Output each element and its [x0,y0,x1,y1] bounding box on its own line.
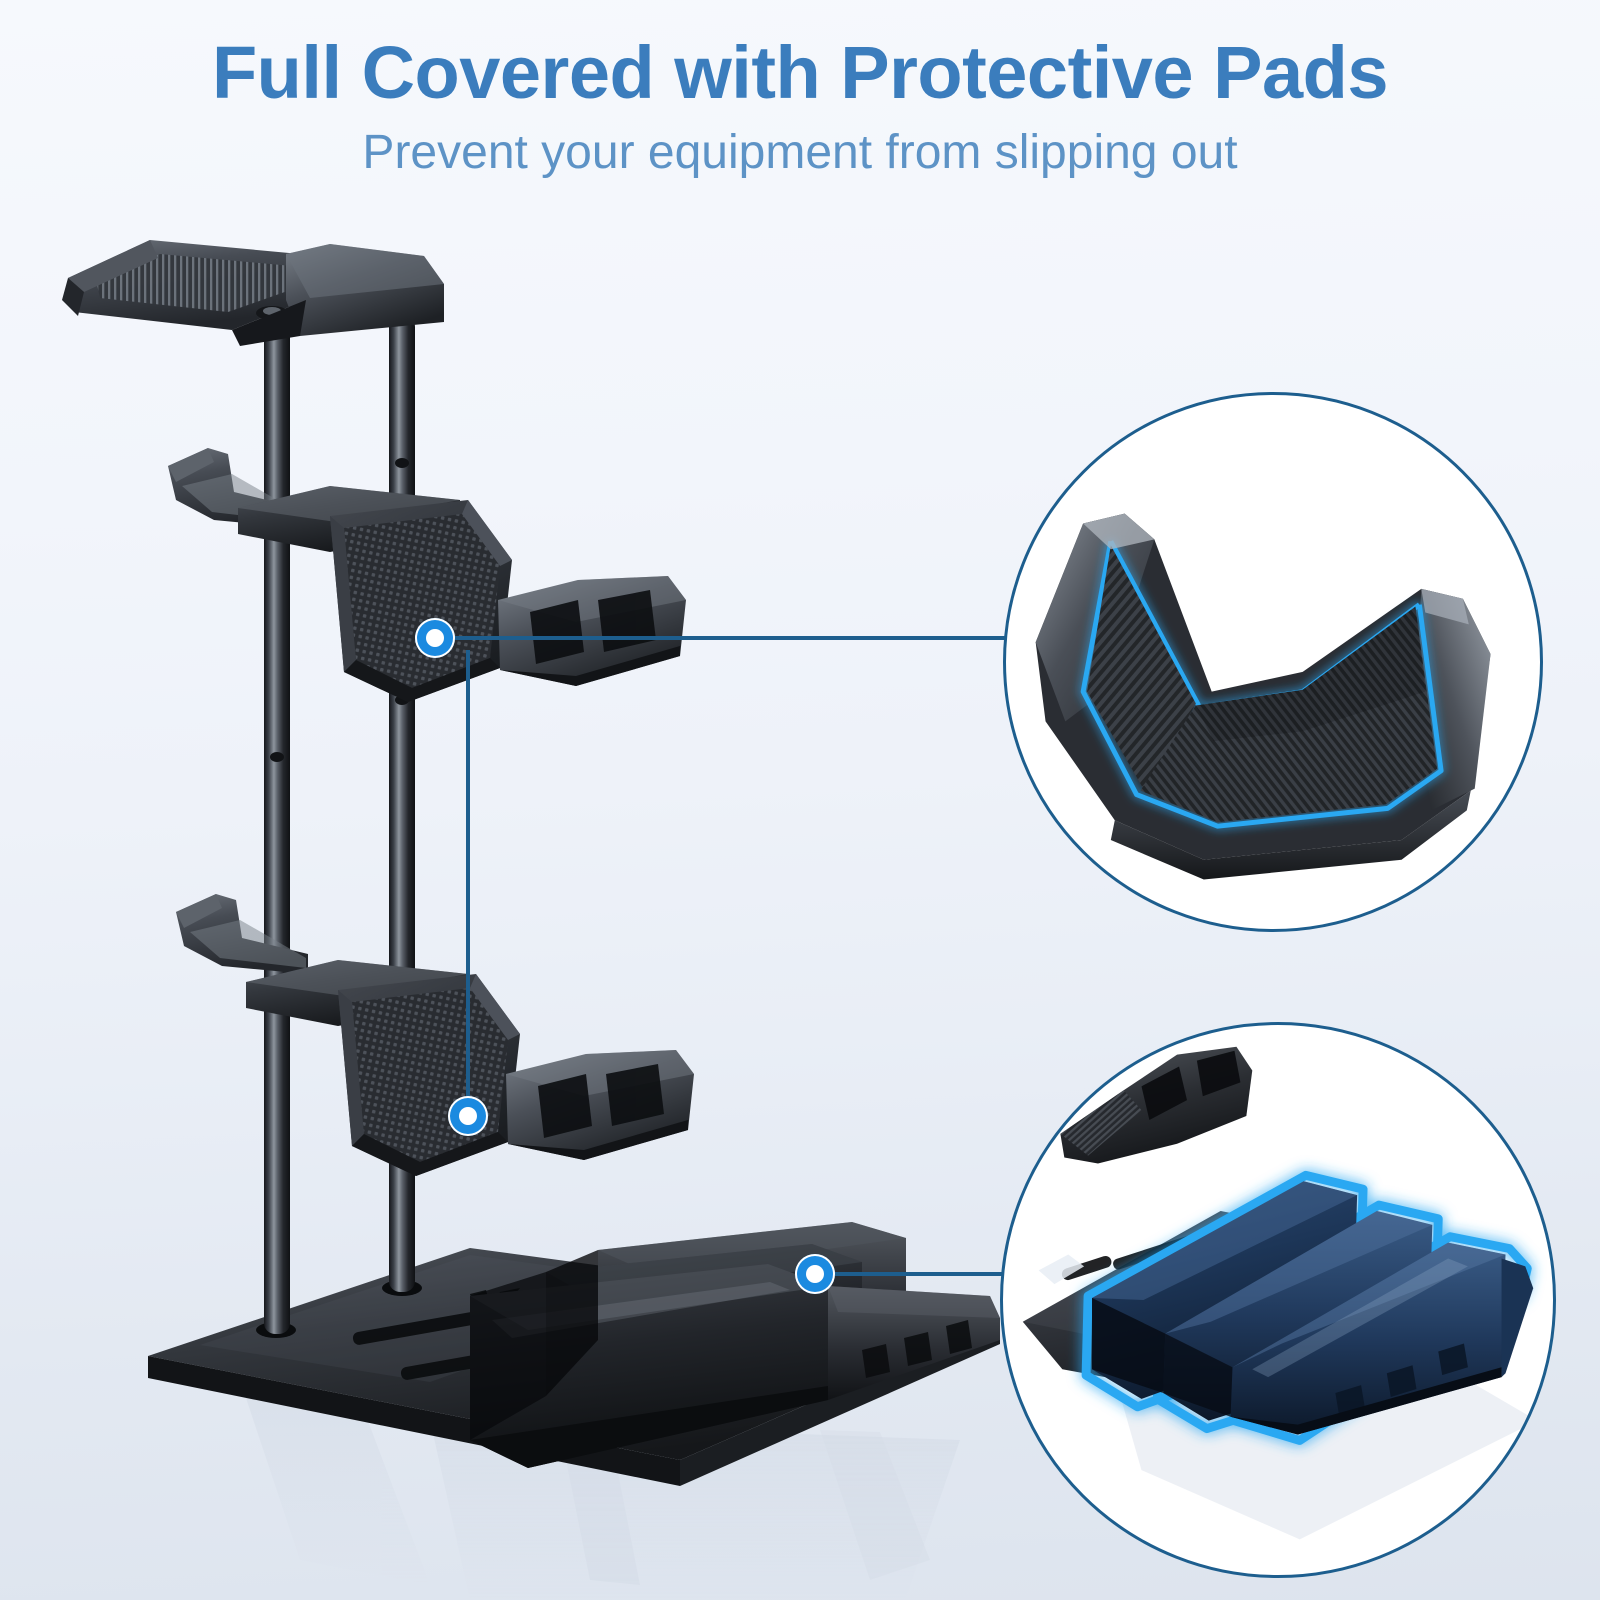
zoom-side-hook [1060,1047,1252,1164]
zoom-controller-pad-art [1006,395,1540,929]
zoom-laptop-dock-art [1003,1025,1553,1575]
callout-marker-lower-cradle[interactable] [448,1096,488,1136]
zoom-view-laptop-dock [1000,1022,1556,1578]
callout-marker-controller-pad[interactable] [415,618,455,658]
product-feature-graphic: Full Covered with Protective Pads Preven… [0,0,1600,1600]
callout-marker-laptop-slots[interactable] [795,1254,835,1294]
zoom-view-controller-pad [1003,392,1543,932]
